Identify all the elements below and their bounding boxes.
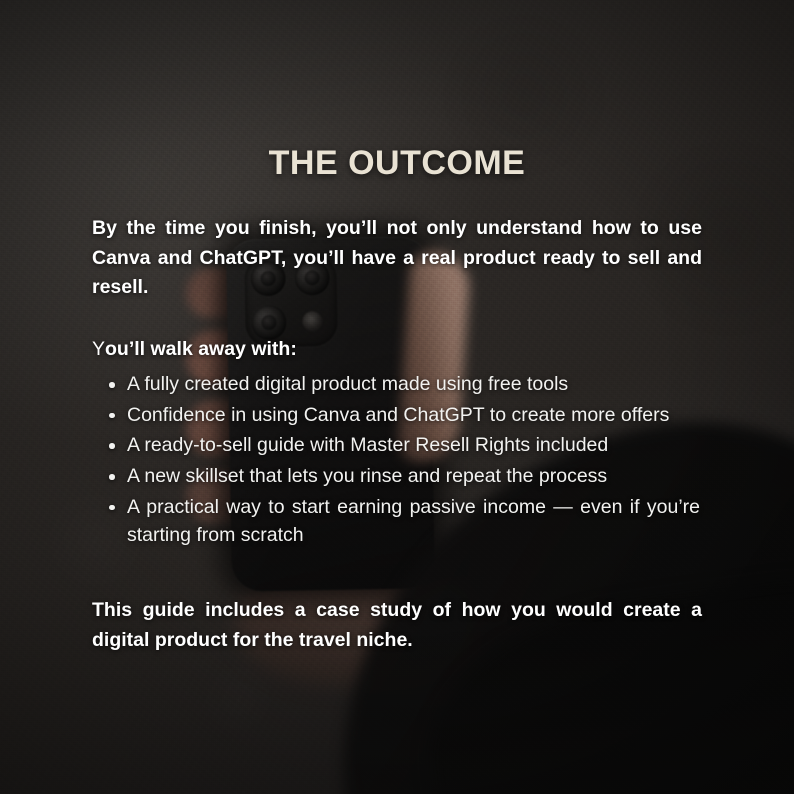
- closing-paragraph: This guide includes a case study of how …: [92, 596, 702, 655]
- outcome-list: A fully created digital product made usi…: [92, 370, 702, 550]
- list-item: A practical way to start earning passive…: [127, 493, 702, 550]
- list-item: A fully created digital product made usi…: [127, 370, 702, 399]
- list-item: A ready-to-sell guide with Master Resell…: [127, 431, 702, 460]
- body-block: By the time you finish, you’ll not only …: [92, 214, 702, 655]
- page-title: THE OUTCOME: [0, 145, 794, 182]
- spacer: [92, 552, 702, 596]
- list-item: A new skillset that lets you rinse and r…: [127, 462, 702, 491]
- slide-content: THE OUTCOME By the time you finish, you’…: [0, 0, 794, 794]
- list-heading-rest: ou’ll walk away with:: [105, 338, 297, 360]
- slide-canvas: THE OUTCOME By the time you finish, you’…: [0, 0, 794, 794]
- list-heading-initial: Y: [92, 338, 105, 360]
- spacer: [92, 303, 702, 335]
- intro-paragraph: By the time you finish, you’ll not only …: [92, 214, 702, 303]
- list-heading: You’ll walk away with:: [92, 335, 702, 364]
- list-item: Confidence in using Canva and ChatGPT to…: [127, 401, 702, 430]
